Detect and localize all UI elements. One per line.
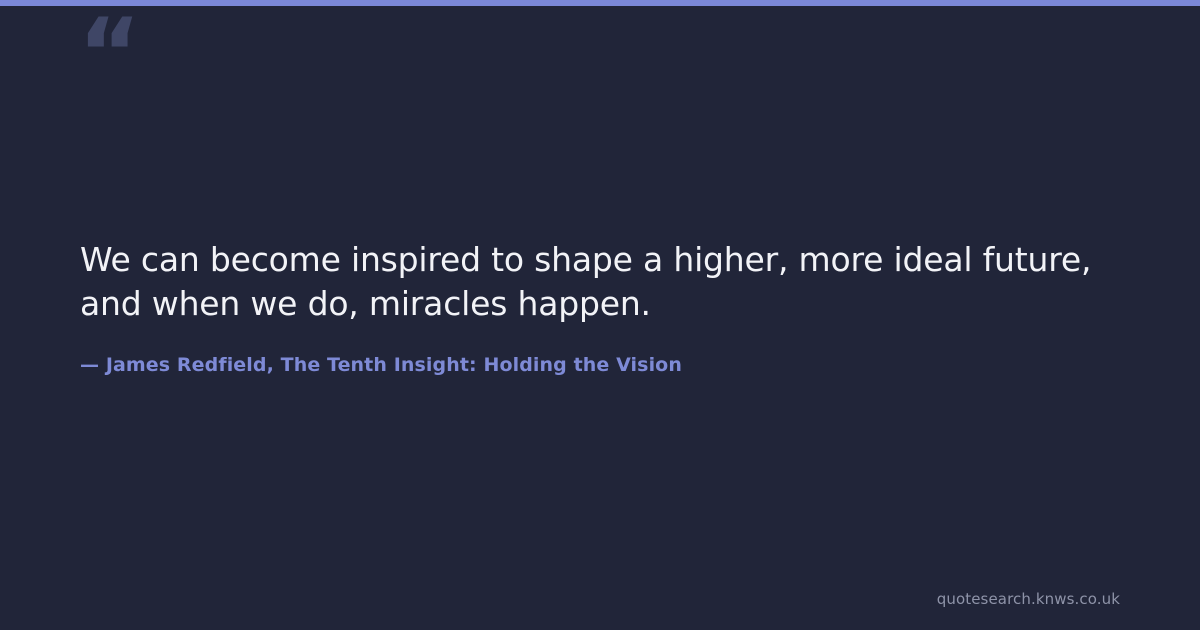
- quote-card: “ We can become inspired to shape a high…: [0, 0, 1200, 630]
- quote-attribution: — James Redfield, The Tenth Insight: Hol…: [80, 325, 1120, 377]
- quote-text: We can become inspired to shape a higher…: [80, 238, 1120, 325]
- open-quote-icon: “: [78, 6, 139, 102]
- top-accent-bar: [0, 0, 1200, 6]
- site-watermark: quotesearch.knws.co.uk: [937, 590, 1120, 608]
- quote-content: We can become inspired to shape a higher…: [80, 238, 1120, 377]
